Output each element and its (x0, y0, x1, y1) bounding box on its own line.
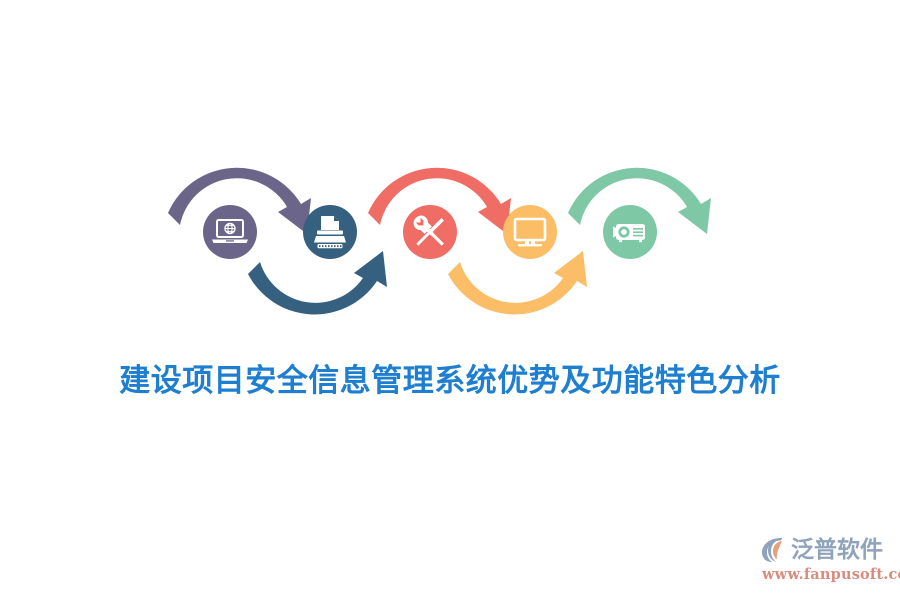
process-step-4[interactable] (503, 205, 557, 259)
process-step-1[interactable] (203, 205, 257, 259)
process-diagram (150, 150, 750, 320)
page-title: 建设项目安全信息管理系统优势及功能特色分析 (0, 362, 900, 401)
step-4-circle (503, 205, 557, 259)
projector-icon (613, 224, 645, 242)
brand-name: 泛普软件 (791, 535, 883, 565)
brand-url: www.fanpusoft.com (762, 566, 896, 583)
process-step-5[interactable] (603, 205, 657, 259)
slide-canvas: 建设项目安全信息管理系统优势及功能特色分析 泛普软件 www.fanpusoft… (0, 0, 900, 600)
brand-watermark: 泛普软件 www.fanpusoft.com (760, 534, 896, 586)
laptop-globe-icon (212, 220, 248, 243)
step-1-circle (203, 205, 257, 259)
process-step-2[interactable] (303, 205, 357, 259)
process-step-3[interactable] (403, 205, 457, 259)
fanpu-logo-icon (760, 535, 790, 565)
arrow-step4-to-step5 (448, 251, 587, 314)
brand-logo-row: 泛普软件 (760, 534, 896, 566)
arrow-step2-to-step3 (248, 251, 387, 314)
